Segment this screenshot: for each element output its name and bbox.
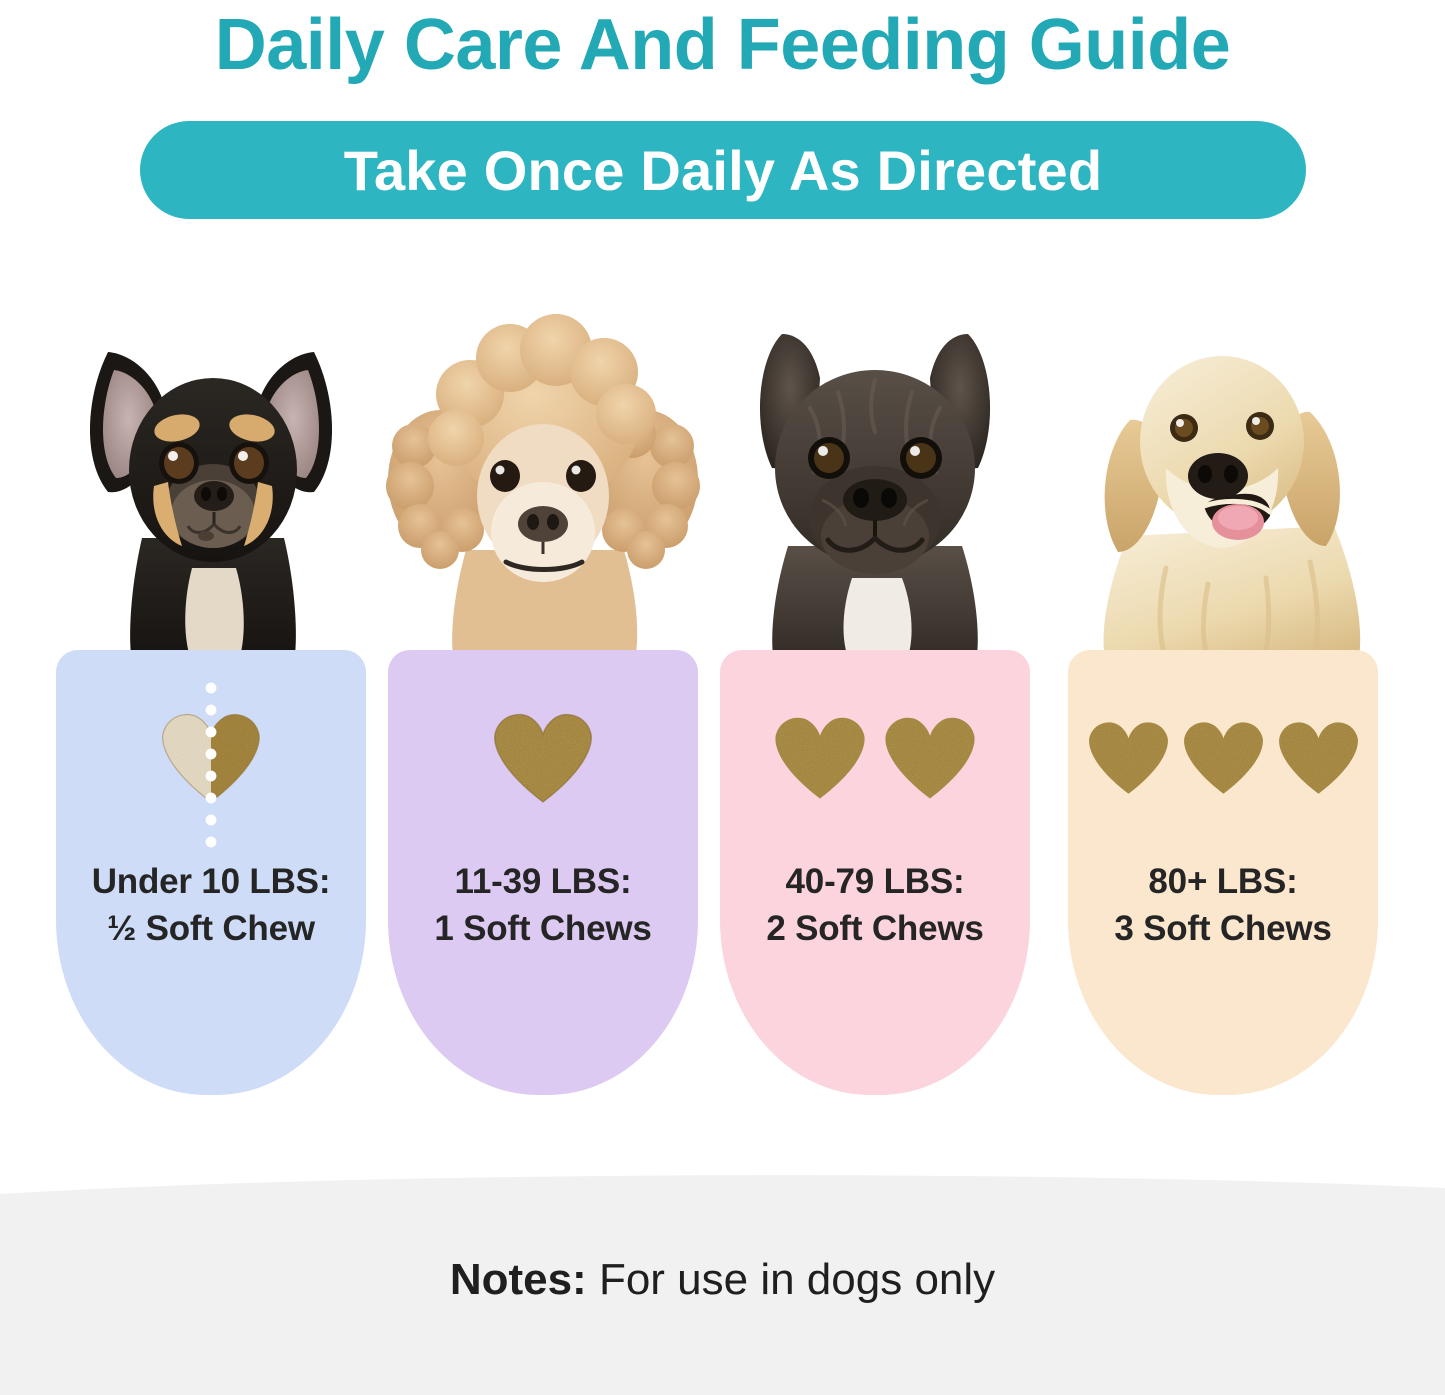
dosage-card-11-39-lbs: 11-39 LBS: 1 Soft Chews (378, 300, 708, 1100)
dosage-labels: 11-39 LBS: 1 Soft Chews (388, 858, 698, 953)
chew-heart-icon (1086, 717, 1171, 797)
dosage-labels: 40-79 LBS: 2 Soft Chews (720, 858, 1030, 953)
notes-body: For use in dogs only (587, 1255, 995, 1304)
chew-heart-icon (1276, 717, 1361, 797)
page-title: Daily Care And Feeding Guide (0, 4, 1445, 87)
dosage-card-80-plus-lbs: 80+ LBS: 3 Soft Chews (1058, 300, 1388, 1100)
weight-label: 40-79 LBS: (720, 858, 1030, 905)
weight-label: 80+ LBS: (1068, 858, 1378, 905)
french-bulldog-photo (710, 300, 1040, 660)
dose-label: ½ Soft Chew (56, 905, 366, 952)
chew-heart-icon (772, 711, 868, 803)
dosage-card-under-10-lbs: Under 10 LBS: ½ Soft Chew (46, 300, 376, 1100)
chew-heart-icon (1181, 717, 1266, 797)
directions-banner-text: Take Once Daily As Directed (344, 138, 1103, 203)
feeding-guide-page: Daily Care And Feeding Guide Take Once D… (0, 0, 1445, 1395)
notes-label: Notes: (450, 1255, 587, 1304)
pill-11-39-lbs: 11-39 LBS: 1 Soft Chews (388, 650, 698, 1095)
pill-under-10-lbs: Under 10 LBS: ½ Soft Chew (56, 650, 366, 1095)
chew-icons-row (720, 702, 1030, 812)
chew-icons-row (1068, 702, 1378, 812)
half-dose-dotted-divider (206, 677, 217, 855)
chew-heart-icon (882, 711, 978, 803)
dosage-cards-row: Under 10 LBS: ½ Soft Chew (0, 300, 1445, 1100)
chew-heart-icon (491, 708, 595, 806)
notes-line: Notes: For use in dogs only (0, 1255, 1445, 1305)
pill-40-79-lbs: 40-79 LBS: 2 Soft Chews (720, 650, 1030, 1095)
poodle-photo (378, 300, 708, 660)
dosage-labels: 80+ LBS: 3 Soft Chews (1068, 858, 1378, 953)
dose-label: 3 Soft Chews (1068, 905, 1378, 952)
pill-80-plus-lbs: 80+ LBS: 3 Soft Chews (1068, 650, 1378, 1095)
weight-label: Under 10 LBS: (56, 858, 366, 905)
dosage-card-40-79-lbs: 40-79 LBS: 2 Soft Chews (710, 300, 1040, 1100)
directions-banner: Take Once Daily As Directed (140, 121, 1306, 219)
dose-label: 1 Soft Chews (388, 905, 698, 952)
golden-retriever-photo (1058, 300, 1388, 660)
chihuahua-photo (46, 300, 376, 660)
dose-label: 2 Soft Chews (720, 905, 1030, 952)
chew-icons-row (388, 702, 698, 812)
weight-label: 11-39 LBS: (388, 858, 698, 905)
dosage-labels: Under 10 LBS: ½ Soft Chew (56, 858, 366, 953)
